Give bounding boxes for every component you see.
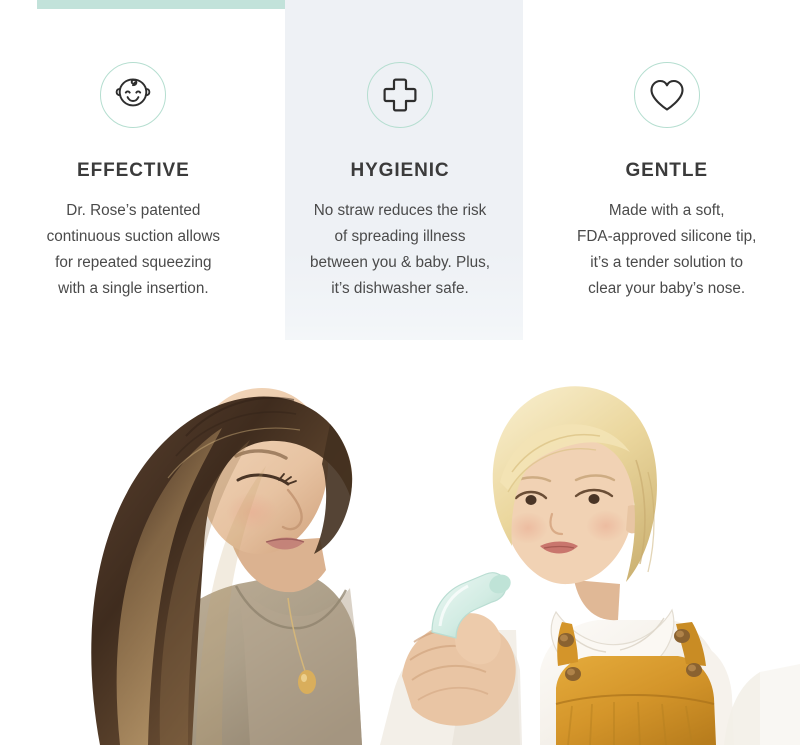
feature-title: HYGIENIC	[350, 161, 449, 180]
feature-title: EFFECTIVE	[77, 161, 190, 180]
feature-hygienic: HYGIENIC No straw reduces the risk of sp…	[267, 0, 534, 340]
necklace-pendant	[298, 670, 316, 694]
lifestyle-photo	[0, 340, 800, 745]
baby-face-icon	[100, 62, 166, 128]
top-accent-bar	[37, 0, 285, 9]
feature-effective: EFFECTIVE Dr. Rose’s patented continuous…	[0, 0, 267, 340]
feature-columns: EFFECTIVE Dr. Rose’s patented continuous…	[0, 0, 800, 340]
heart-icon	[634, 62, 700, 128]
feature-description: No straw reduces the risk of spreading i…	[293, 198, 508, 302]
feature-description: Dr. Rose’s patented continuous suction a…	[26, 198, 241, 302]
feature-gentle: GENTLE Made with a soft, FDA-approved si…	[533, 0, 800, 340]
medical-cross-icon	[367, 62, 433, 128]
feature-title: GENTLE	[625, 161, 707, 180]
lifestyle-photo-illustration	[0, 340, 800, 745]
feature-description: Made with a soft, FDA-approved silicone …	[559, 198, 774, 302]
